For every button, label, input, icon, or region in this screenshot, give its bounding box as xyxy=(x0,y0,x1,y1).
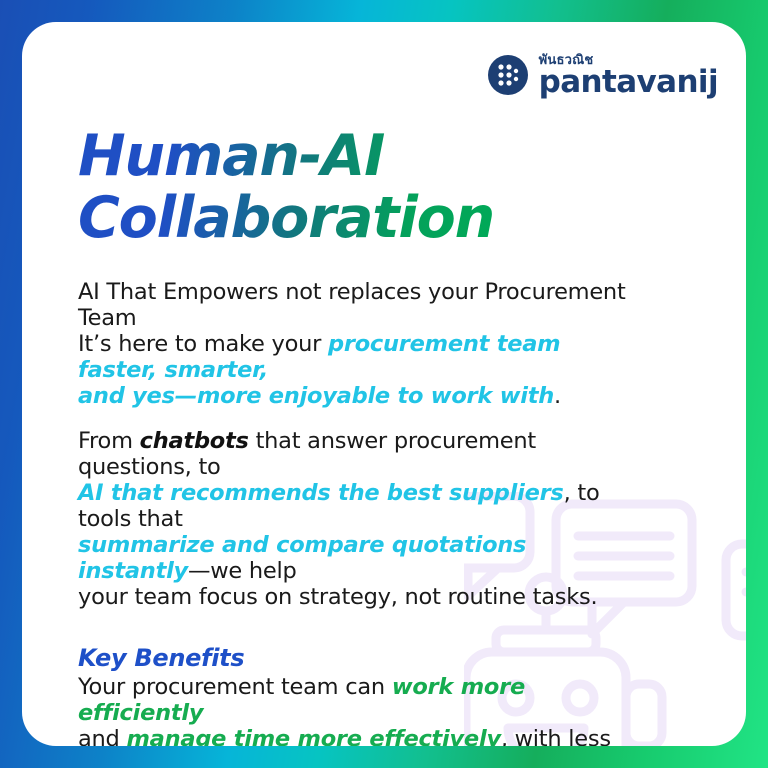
main-content: Human-AI Collaboration AI That Empowers … xyxy=(22,22,746,746)
title-line-2: Collaboration xyxy=(78,188,498,250)
benefits-highlight-2: manage time more effectively xyxy=(126,726,500,746)
intro-paragraph: AI That Empowers not replaces your Procu… xyxy=(78,279,643,409)
title-line-1: Human-AI xyxy=(78,126,498,188)
intro-line-1: AI That Empowers not replaces your Procu… xyxy=(78,279,626,331)
detail-highlight-1: AI that recommends the best suppliers xyxy=(78,480,564,506)
detail-seg-8: your team focus on strategy, not routine… xyxy=(78,584,597,610)
detail-paragraph: From chatbots that answer procurement qu… xyxy=(78,428,643,611)
benefits-heading: Key Benefits xyxy=(78,644,702,672)
content-card: พันธวณิช pantavanij Human-AI Collaborati… xyxy=(22,22,746,746)
intro-line-2-plain: It’s here to make your xyxy=(78,331,328,357)
page-title: Human-AI Collaboration xyxy=(78,126,498,249)
detail-seg-7: —we help xyxy=(188,558,297,584)
detail-seg-1: From xyxy=(78,428,140,454)
benefits-seg-3: and xyxy=(78,726,126,746)
detail-bold-chatbots: chatbots xyxy=(140,428,249,454)
intro-line-3-tail: . xyxy=(554,383,561,409)
benefits-seg-1: Your procurement team can xyxy=(78,674,392,700)
poster-frame: พันธวณิช pantavanij Human-AI Collaborati… xyxy=(0,0,768,768)
detail-highlight-2: summarize and compare quotations instant… xyxy=(78,532,526,584)
benefits-paragraph: Your procurement team can work more effi… xyxy=(78,674,643,746)
intro-highlight-2: and yes—more enjoyable to work with xyxy=(78,383,554,409)
